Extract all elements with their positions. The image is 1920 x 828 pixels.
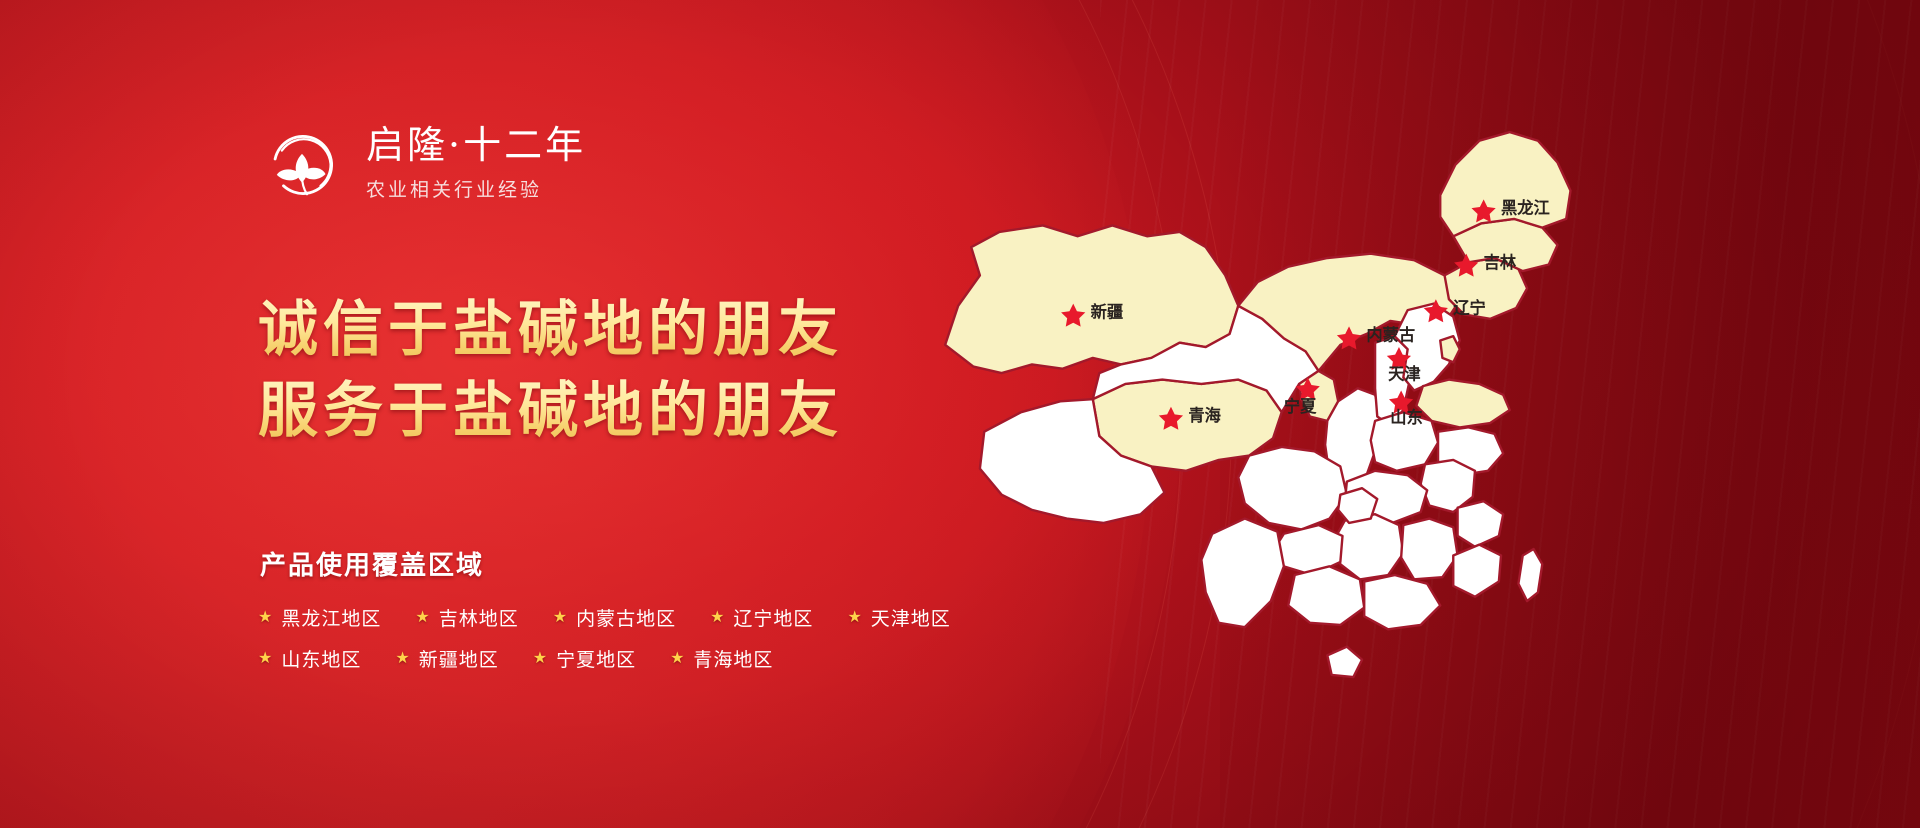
region-item: ★宁夏地区 xyxy=(533,645,636,672)
china-coverage-map: 黑龙江 吉林 辽宁 内蒙古 天津 xyxy=(880,60,1640,760)
star-icon: ★ xyxy=(847,610,861,626)
province-fujian xyxy=(1453,545,1501,597)
region-item: ★吉林地区 xyxy=(415,604,518,631)
map-label-xinjiang: 新疆 xyxy=(1091,303,1124,322)
region-item: ★内蒙古地区 xyxy=(553,604,676,631)
star-icon: ★ xyxy=(258,651,272,667)
region-label: 宁夏地区 xyxy=(556,645,636,672)
star-icon: ★ xyxy=(258,610,272,626)
star-icon: ★ xyxy=(395,651,409,667)
region-label: 辽宁地区 xyxy=(733,604,813,631)
region-item: ★黑龙江地区 xyxy=(258,604,381,631)
coverage-region-row-1: ★黑龙江地区 ★吉林地区 ★内蒙古地区 ★辽宁地区 ★天津地区 xyxy=(258,604,978,631)
coverage-region-list: ★黑龙江地区 ★吉林地区 ★内蒙古地区 ★辽宁地区 ★天津地区 ★山东地区 ★新… xyxy=(258,604,978,686)
province-chongqing xyxy=(1338,488,1377,523)
province-hunan xyxy=(1334,514,1403,579)
headline-block: 诚信于盐碱地的朋友 服务于盐碱地的朋友 xyxy=(258,290,843,452)
region-label: 黑龙江地区 xyxy=(281,604,381,631)
brand-logo: 启隆·十二年 农业相关行业经验 xyxy=(260,122,586,206)
star-icon: ★ xyxy=(533,651,547,667)
region-label: 山东地区 xyxy=(281,645,361,672)
star-icon: ★ xyxy=(415,610,429,626)
province-hainan xyxy=(1327,647,1362,677)
coverage-region-row-2: ★山东地区 ★新疆地区 ★宁夏地区 ★青海地区 xyxy=(258,645,978,672)
region-item: ★青海地区 xyxy=(670,645,773,672)
region-label: 新疆地区 xyxy=(419,645,499,672)
map-label-qinghai: 青海 xyxy=(1188,406,1221,425)
region-label: 内蒙古地区 xyxy=(576,604,676,631)
lotus-leaf-circle-logo-icon xyxy=(260,122,344,206)
province-yunnan xyxy=(1201,519,1284,628)
province-guangdong xyxy=(1364,575,1440,629)
region-label: 青海地区 xyxy=(693,645,773,672)
brand-subtitle: 农业相关行业经验 xyxy=(366,175,586,202)
headline-line-1: 诚信于盐碱地的朋友 xyxy=(258,290,843,371)
province-zhejiang xyxy=(1458,501,1504,547)
map-label-tianjin: 天津 xyxy=(1388,365,1421,384)
region-item: ★山东地区 xyxy=(258,645,361,672)
map-label-jilin: 吉林 xyxy=(1484,253,1517,272)
region-item: ★新疆地区 xyxy=(395,645,498,672)
map-label-liaoning: 辽宁 xyxy=(1453,298,1486,317)
province-heilongjiang xyxy=(1440,132,1570,236)
map-label-shandong: 山东 xyxy=(1390,408,1423,427)
star-icon: ★ xyxy=(710,610,724,626)
star-icon: ★ xyxy=(553,610,567,626)
region-item: ★辽宁地区 xyxy=(710,604,813,631)
brand-logo-text: 启隆·十二年 农业相关行业经验 xyxy=(366,126,586,202)
headline-line-2: 服务于盐碱地的朋友 xyxy=(258,371,843,452)
region-label: 吉林地区 xyxy=(439,604,519,631)
province-guangxi xyxy=(1288,566,1364,625)
coverage-section-title: 产品使用覆盖区域 xyxy=(260,545,484,582)
province-jiangxi xyxy=(1401,519,1457,580)
province-taiwan xyxy=(1518,549,1542,601)
brand-title: 启隆·十二年 xyxy=(366,126,586,166)
promotional-banner: 启隆·十二年 农业相关行业经验 诚信于盐碱地的朋友 服务于盐碱地的朋友 产品使用… xyxy=(0,0,1920,828)
map-label-inner-mongolia: 内蒙古 xyxy=(1366,326,1415,345)
star-icon: ★ xyxy=(670,651,684,667)
map-label-ningxia: 宁夏 xyxy=(1284,397,1317,416)
map-label-heilongjiang: 黑龙江 xyxy=(1501,198,1550,217)
